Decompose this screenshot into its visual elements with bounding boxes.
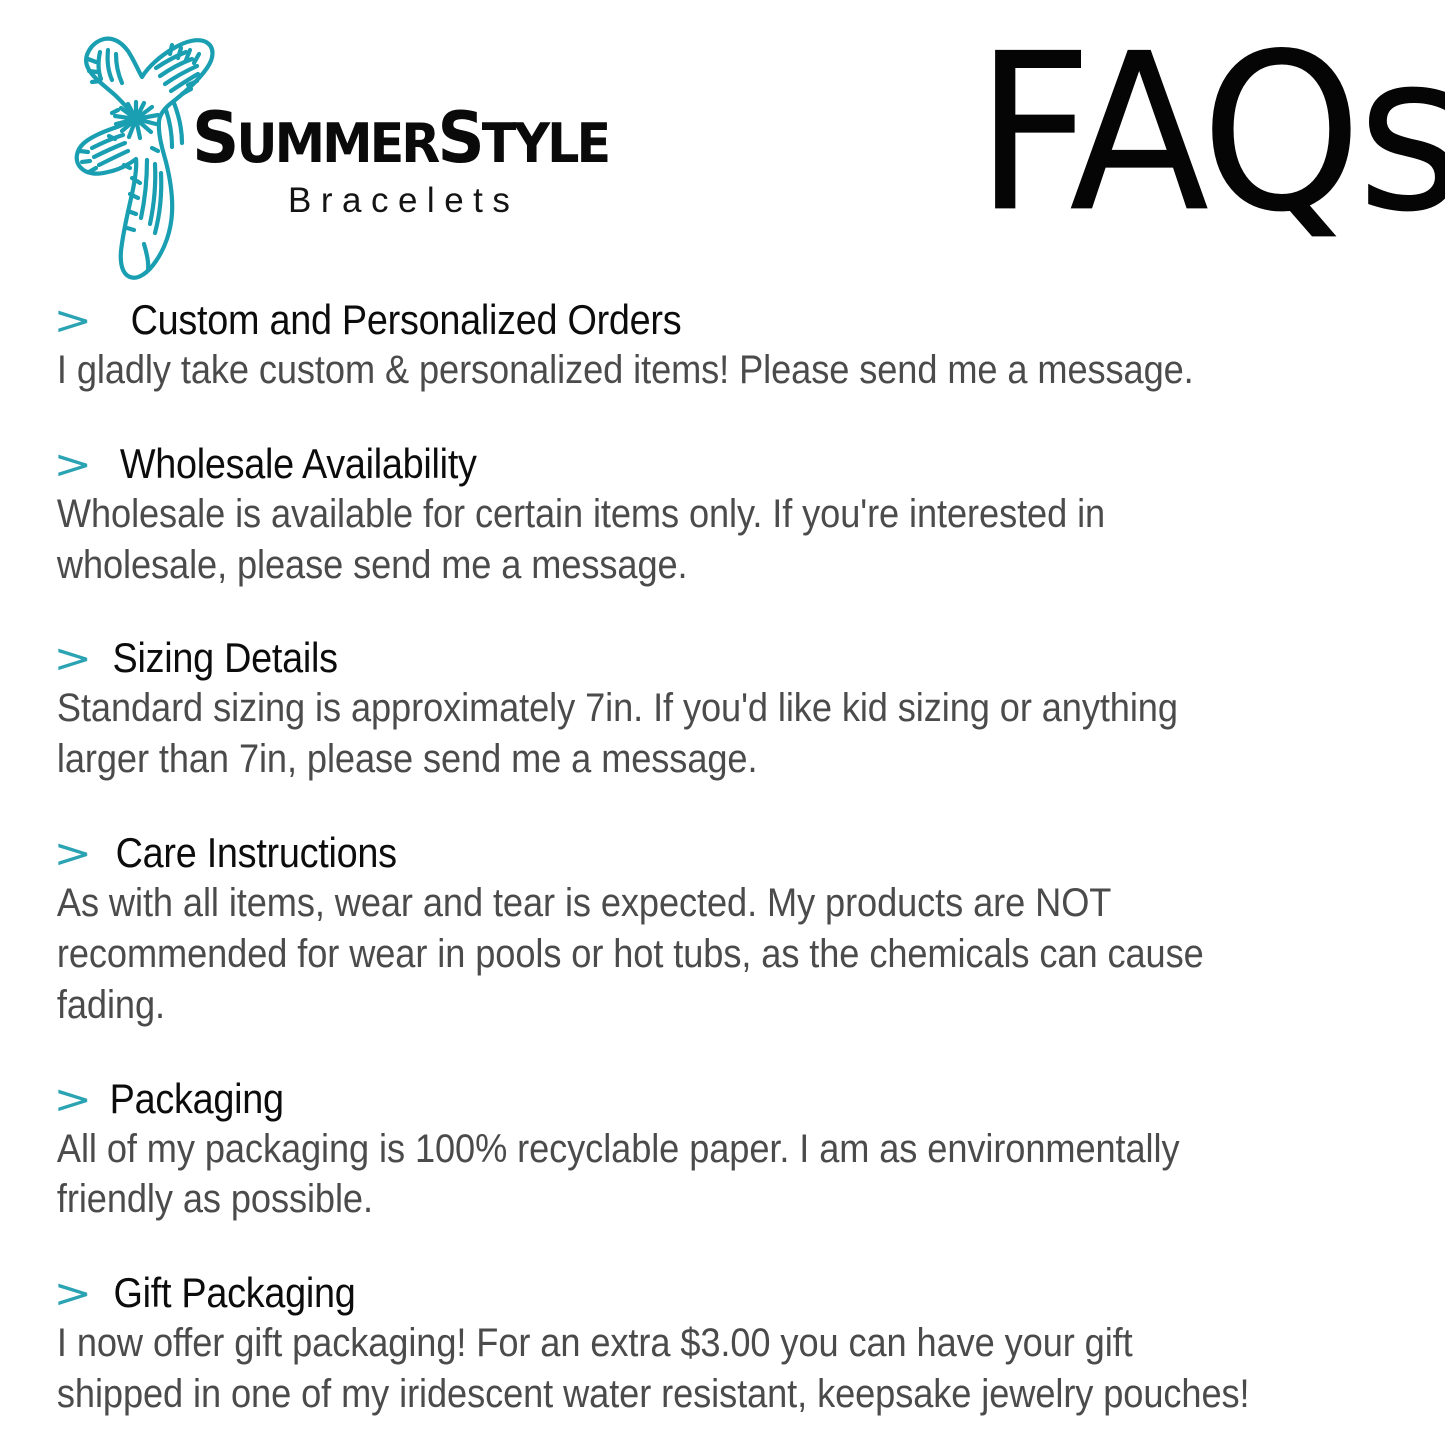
faq-heading-row[interactable]: > Custom and Personalized Orders xyxy=(56,296,1386,343)
brand-logo: SUMMERSTYLE Bracelets xyxy=(52,18,672,290)
faq-heading-row[interactable]: > Gift Packaging xyxy=(56,1269,1386,1316)
brand-name-ummer: UMMER xyxy=(236,112,437,175)
faq-body-text: Standard sizing is approximately 7in. If… xyxy=(56,683,1260,785)
faq-heading-row[interactable]: > Sizing Details xyxy=(56,634,1386,681)
brand-wordmark: SUMMERSTYLE Bracelets xyxy=(192,104,662,254)
faq-heading-text: Sizing Details xyxy=(112,634,337,681)
chevron-right-icon: > xyxy=(53,1274,92,1314)
faq-page: SUMMERSTYLE Bracelets FAQs > Custom and … xyxy=(0,0,1445,1445)
faq-item-wholesale: > Wholesale Availability Wholesale is av… xyxy=(56,440,1386,591)
brand-name-s1: S xyxy=(192,97,236,179)
faq-item-care-instructions: > Care Instructions As with all items, w… xyxy=(56,829,1386,1030)
faq-item-custom-orders: > Custom and Personalized Orders I gladl… xyxy=(56,296,1386,396)
faq-heading-row[interactable]: > Care Instructions xyxy=(56,829,1386,876)
chevron-right-icon: > xyxy=(53,445,92,485)
brand-name-s2: S xyxy=(437,97,481,179)
faq-heading-text: Custom and Personalized Orders xyxy=(130,296,681,343)
faq-body-text: Wholesale is available for certain items… xyxy=(56,489,1260,591)
faq-body-text: I gladly take custom & personalized item… xyxy=(56,345,1260,396)
page-title: FAQs xyxy=(975,26,1405,243)
faq-item-gift-packaging: > Gift Packaging I now offer gift packag… xyxy=(56,1269,1386,1420)
faq-heading-text: Gift Packaging xyxy=(113,1269,355,1316)
faq-heading-text: Wholesale Availability xyxy=(119,440,476,487)
faq-body-text: I now offer gift packaging! For an extra… xyxy=(56,1318,1260,1420)
chevron-right-icon: > xyxy=(53,1080,92,1120)
faq-heading-row[interactable]: > Wholesale Availability xyxy=(56,440,1386,487)
brand-name-tyle: TYLE xyxy=(482,112,608,175)
chevron-right-icon: > xyxy=(53,301,92,341)
faq-body-text: All of my packaging is 100% recyclable p… xyxy=(56,1124,1260,1226)
faq-heading-text: Packaging xyxy=(109,1075,283,1122)
faq-heading-row[interactable]: > Packaging xyxy=(56,1075,1386,1122)
chevron-right-icon: > xyxy=(53,834,92,874)
faq-heading-text: Care Instructions xyxy=(115,829,396,876)
faq-item-sizing: > Sizing Details Standard sizing is appr… xyxy=(56,634,1386,785)
faq-item-packaging: > Packaging All of my packaging is 100% … xyxy=(56,1075,1386,1226)
brand-name: SUMMERSTYLE xyxy=(192,104,634,173)
brand-subtitle: Bracelets xyxy=(288,181,662,221)
faq-list: > Custom and Personalized Orders I gladl… xyxy=(56,296,1386,1420)
faq-body-text: As with all items, wear and tear is expe… xyxy=(56,878,1260,1030)
page-header: SUMMERSTYLE Bracelets FAQs xyxy=(0,0,1445,290)
chevron-right-icon: > xyxy=(53,639,92,679)
